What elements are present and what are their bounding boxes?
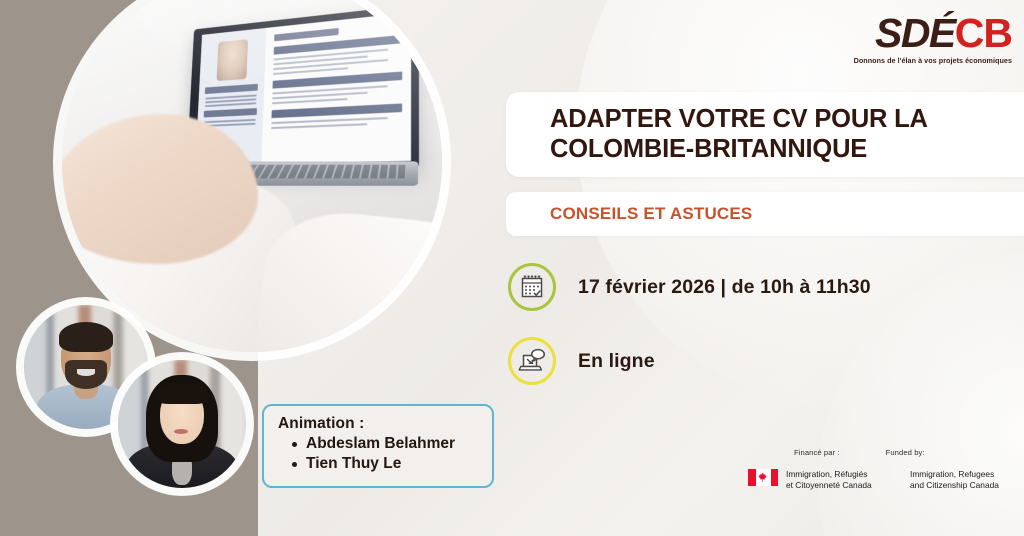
funding-block: Financé par : Funded by: Immigration, Ré… <box>748 448 1018 491</box>
funding-dept-fr-line1: Immigration, Réfugiés <box>786 469 896 480</box>
logo-cb-text: CB <box>955 10 1012 56</box>
title-panel: ADAPTER VOTRE CV POUR LA COLOMBIE-BRITAN… <box>506 92 1024 177</box>
event-date-row: 17 février 2026 | de 10h à 11h30 <box>508 263 871 311</box>
subtitle-panel: CONSEILS ET ASTUCES <box>506 192 1024 236</box>
page-title: ADAPTER VOTRE CV POUR LA COLOMBIE-BRITAN… <box>506 105 928 165</box>
hero-photo-laptop-cv <box>62 0 442 352</box>
canada-flag-icon <box>748 469 778 486</box>
funding-dept-en-line2: and Citizenship Canada <box>910 480 1020 491</box>
event-mode-row: En ligne <box>508 337 655 385</box>
funding-dept-fr-line2: et Citoyenneté Canada <box>786 480 896 491</box>
event-poster: Animation : Abdeslam Belahmer Tien Thuy … <box>0 0 1024 536</box>
hero-photo-content <box>62 0 442 352</box>
avatar-presenter-two <box>118 360 246 488</box>
animation-label: Animation : <box>278 415 480 432</box>
calendar-icon <box>508 263 556 311</box>
brand-logo[interactable]: SDÉCB Donnons de l'élan à vos projets éc… <box>854 14 1012 65</box>
hero-photo-sheen <box>62 0 442 352</box>
funding-dept-fr: Immigration, Réfugiés et Citoyenneté Can… <box>786 469 896 491</box>
list-item: Abdeslam Belahmer <box>292 434 480 454</box>
funding-label-en: Funded by: <box>886 448 925 457</box>
logo-tagline: Donnons de l'élan à vos projets économiq… <box>854 56 1012 65</box>
funding-labels: Financé par : Funded by: <box>748 448 1018 457</box>
laptop-chat-icon <box>508 337 556 385</box>
animation-box: Animation : Abdeslam Belahmer Tien Thuy … <box>262 404 494 488</box>
maple-leaf-icon <box>757 471 769 484</box>
list-item: Tien Thuy Le <box>292 454 480 474</box>
funding-dept-en: Immigration, Refugees and Citizenship Ca… <box>910 469 1020 491</box>
funding-body: Immigration, Réfugiés et Citoyenneté Can… <box>748 469 1018 491</box>
logo-wordmark: SDÉCB <box>854 14 1012 53</box>
title-line-2: COLOMBIE-BRITANNIQUE <box>550 135 928 165</box>
funding-label-fr: Financé par : <box>794 448 840 457</box>
title-line-1: ADAPTER VOTRE CV POUR LA <box>550 105 928 135</box>
page-subtitle: CONSEILS ET ASTUCES <box>506 204 752 224</box>
funding-departments: Immigration, Réfugiés et Citoyenneté Can… <box>786 469 1020 491</box>
event-date-text: 17 février 2026 | de 10h à 11h30 <box>578 276 871 299</box>
presenter-list: Abdeslam Belahmer Tien Thuy Le <box>292 434 480 474</box>
funding-dept-en-line1: Immigration, Refugees <box>910 469 1020 480</box>
logo-sde-text: SDÉ <box>875 10 955 56</box>
event-mode-text: En ligne <box>578 350 655 373</box>
